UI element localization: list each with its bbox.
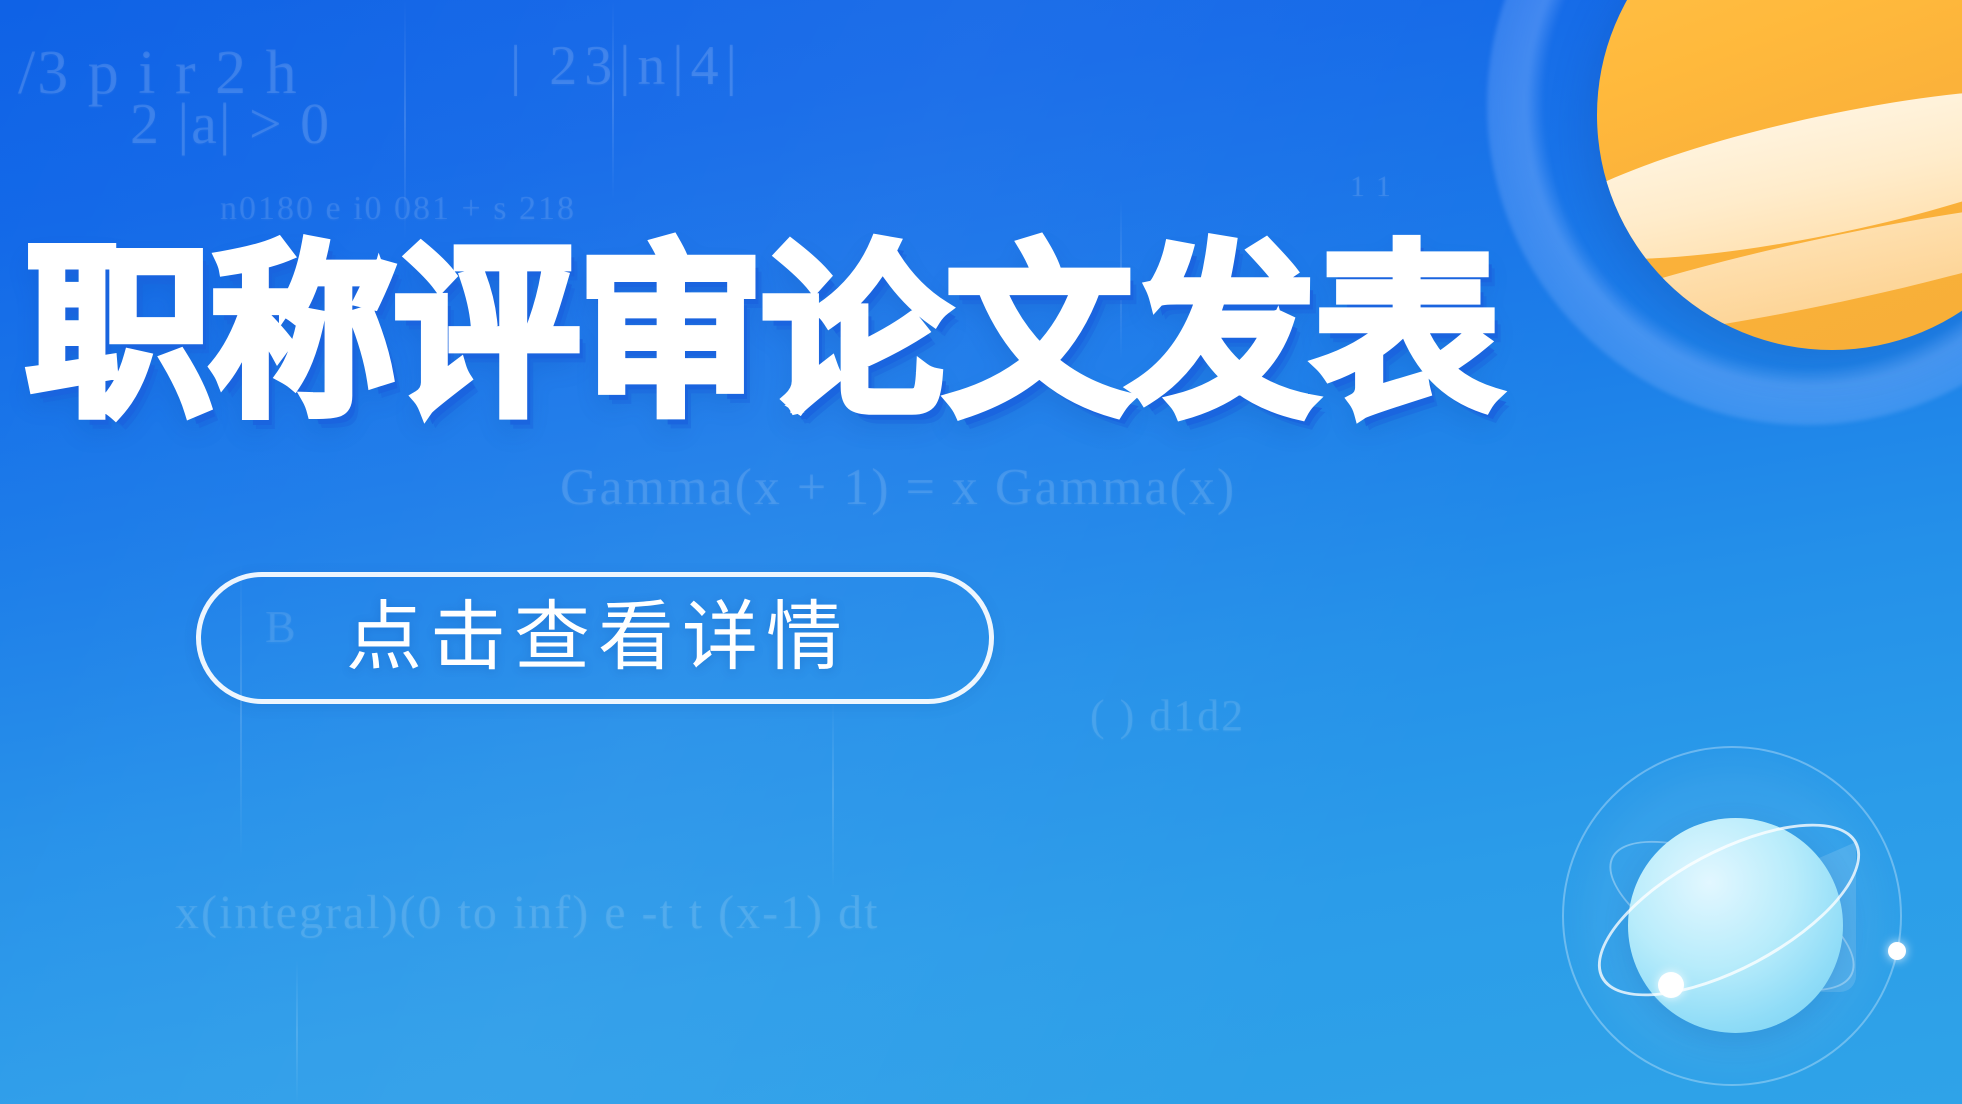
watermark-text: x(integral)(0 to inf) e -t t (x-1) dt [175, 885, 879, 940]
scratch-line [612, 0, 614, 200]
view-details-button[interactable]: 点击查看详情 [196, 572, 994, 704]
scratch-line [404, 0, 406, 240]
promo-banner: /3 p i r 2 h 2 |a| > 0 | 23|n|4| n0180 e… [0, 0, 1962, 1104]
atom-icon [1562, 746, 1902, 1086]
view-details-button-label: 点击查看详情 [340, 600, 850, 676]
watermark-text: | 23|n|4| [510, 34, 744, 98]
watermark-text: ( ) d1d2 [1090, 690, 1245, 741]
scratch-line [832, 700, 834, 890]
watermark-text: 11 [1350, 170, 1403, 204]
orange-planet-icon [1597, 0, 1962, 350]
watermark-text: /3 p i r 2 h [18, 38, 299, 109]
watermark-text: Gamma(x + 1) = x Gamma(x) [560, 458, 1236, 517]
atom-electron-dot [1658, 972, 1684, 998]
scratch-line [296, 960, 298, 1104]
watermark-text: 2 |a| > 0 [130, 90, 331, 157]
page-title: 职称评审论文发表 [26, 242, 1498, 428]
watermark-text: n0180 e i0 081 + s 218 [220, 190, 576, 228]
atom-electron-dot [1888, 942, 1906, 960]
